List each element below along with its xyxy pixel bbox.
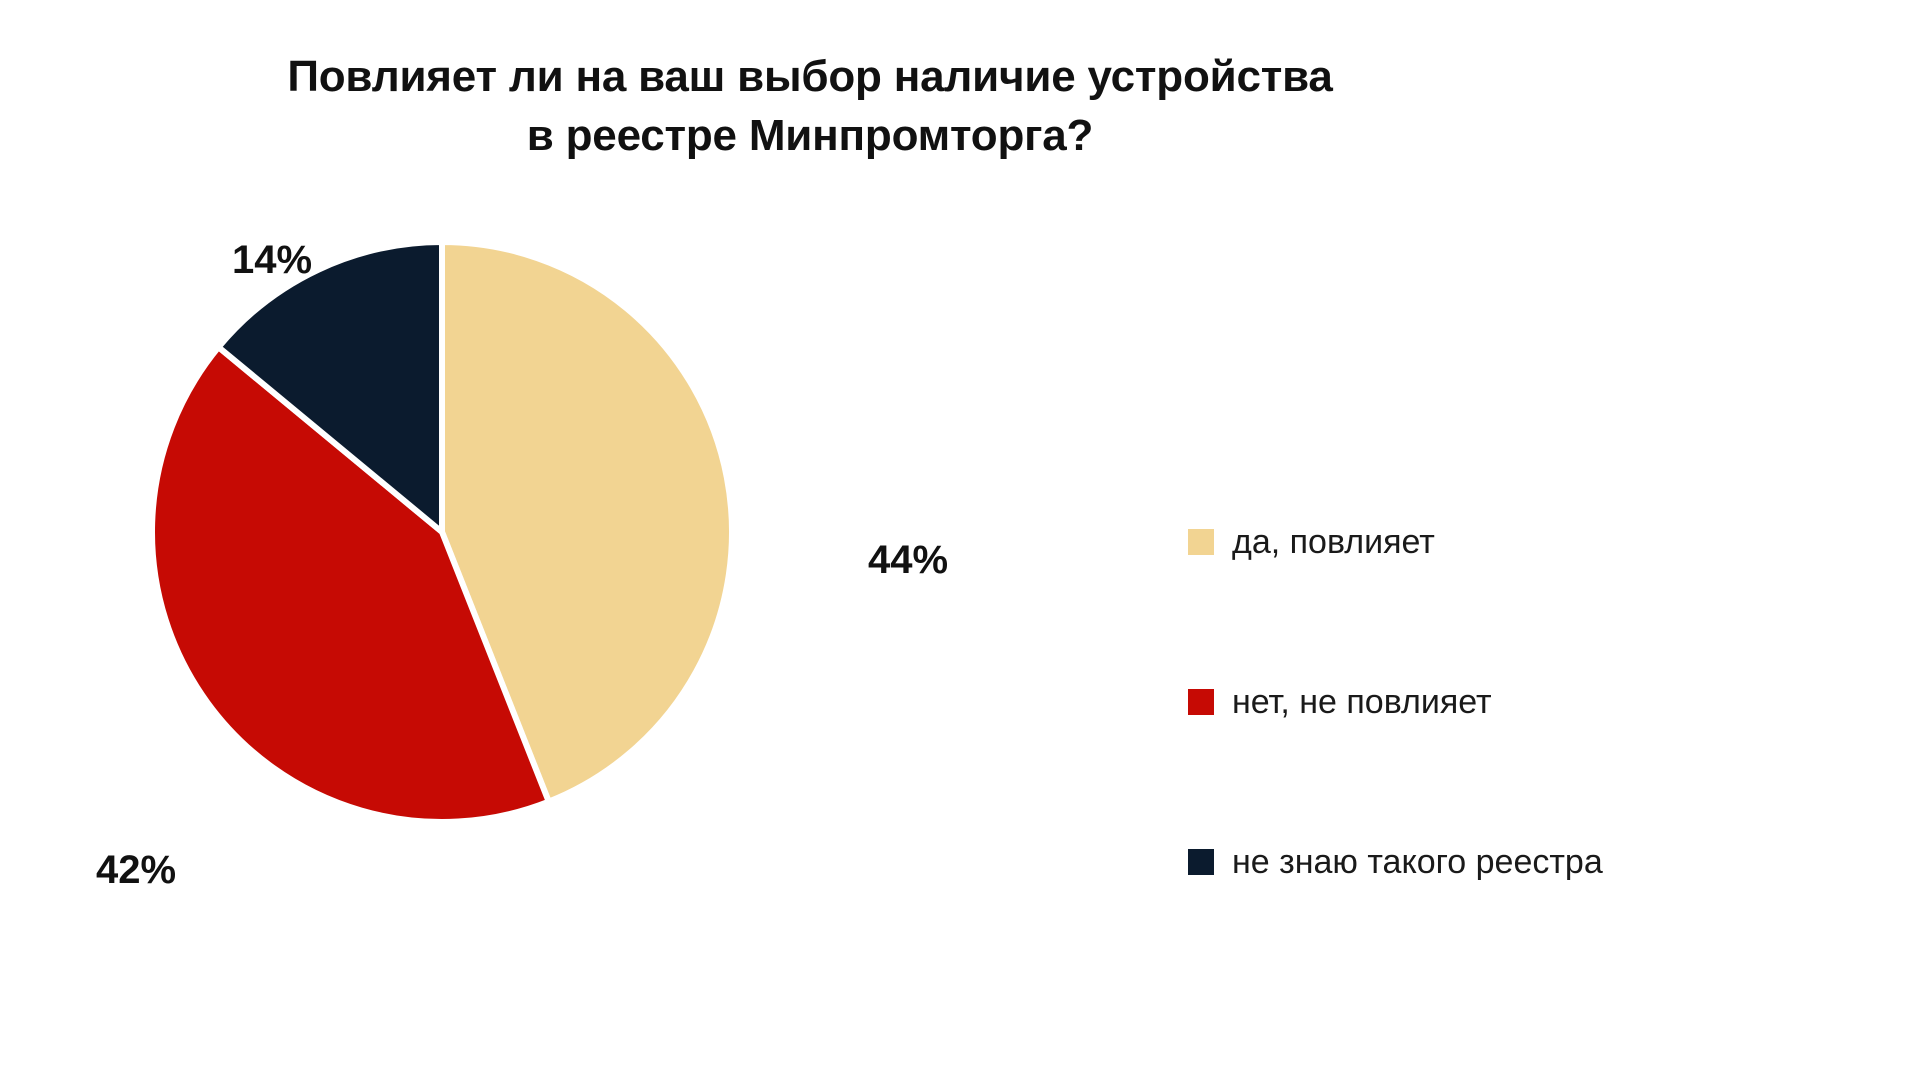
pie-plot-area: 44% 42% 14% [0,0,1000,1080]
legend-label-ne-znayu: не знаю такого реестра [1232,845,1603,879]
pie-svg [0,0,1000,1080]
legend-item-da-povliyaet[interactable]: да, повлияет [1188,462,1888,622]
pie-value-label-net: 42% [96,848,176,893]
chart-legend: да, повлияет нет, не повлияет не знаю та… [1188,462,1888,942]
pie-chart-figure: Повлияет ли на ваш выбор наличие устройс… [0,0,1920,1080]
pie-value-label-ne-znayu: 14% [232,238,312,283]
pie-slices [152,242,732,822]
legend-label-net: нет, не повлияет [1232,685,1492,719]
legend-swatch-icon-ne-znayu [1188,849,1214,875]
legend-swatch-icon-da [1188,529,1214,555]
pie-value-label-da: 44% [868,538,948,583]
legend-item-net-ne-povliyaet[interactable]: нет, не повлияет [1188,622,1888,782]
legend-swatch-icon-net [1188,689,1214,715]
legend-item-ne-znayu-takogo-reestra[interactable]: не знаю такого реестра [1188,782,1888,942]
legend-label-da: да, повлияет [1232,525,1435,559]
